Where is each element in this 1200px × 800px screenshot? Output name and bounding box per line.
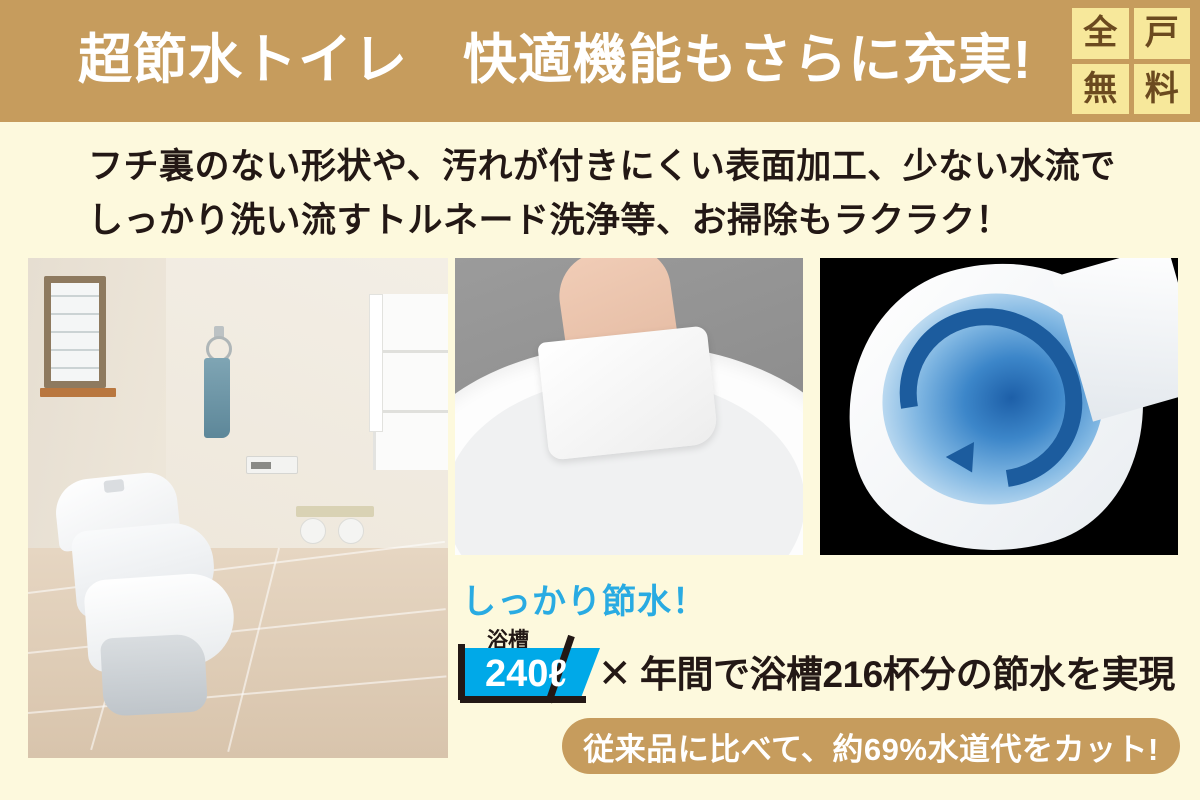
bathtub-icon: 240ℓ — [458, 648, 600, 700]
wall-cabinet — [373, 294, 448, 470]
toilet-base — [100, 633, 208, 716]
toilet-paper-roll — [338, 518, 364, 544]
cleaning-cloth — [537, 325, 718, 460]
toilet-flush-button — [103, 479, 124, 493]
floor-tile-line — [227, 548, 280, 752]
savings-heading: しっかり節水！ — [462, 574, 707, 623]
badge-cell-ko: 戸 — [1134, 8, 1191, 59]
hanging-towel — [204, 358, 230, 438]
cabinet-door — [369, 294, 383, 432]
page-title: 超節水トイレ 快適機能もさらに充実! — [78, 27, 1032, 93]
savings-sentence: 年間で浴槽216杯分の節水を実現 — [640, 652, 1175, 698]
free-for-all-units-badge: 全 戸 無 料 — [1072, 8, 1190, 114]
tornado-flush-photo — [820, 258, 1178, 555]
badge-cell-ryo: 料 — [1134, 64, 1191, 115]
multiply-sign: ✕ — [598, 652, 632, 696]
badge-cell-mu: 無 — [1072, 64, 1129, 115]
header-bar: 超節水トイレ 快適機能もさらに充実! 全 戸 無 料 — [0, 0, 1200, 122]
water-bill-cut-badge: 従来品に比べて、約69%水道代をカット! — [562, 718, 1180, 774]
lead-line-2: しっかり洗い流すトルネード洗浄等、お掃除もラクラク！ — [88, 194, 1108, 248]
window-sill — [40, 388, 116, 397]
water-bill-cut-text: 従来品に比べて、約69%水道代をカット! — [583, 724, 1159, 769]
toilet-control-panel — [246, 456, 298, 474]
badge-cell-zen: 全 — [1072, 8, 1129, 59]
lead-line-1: フチ裏のない形状や、汚れが付きにくい表面加工、少ない水流で — [88, 140, 1108, 194]
cleaning-photo — [455, 258, 803, 555]
window-icon — [44, 276, 106, 388]
toilet-room-photo — [28, 258, 448, 758]
toilet-paper-roll — [300, 518, 326, 544]
bathtub-outline-left — [458, 644, 465, 700]
poster-root: 超節水トイレ 快適機能もさらに充実! 全 戸 無 料 フチ裏のない形状や、汚れが… — [0, 0, 1200, 800]
paper-holder-shelf — [296, 506, 374, 517]
lead-paragraph: フチ裏のない形状や、汚れが付きにくい表面加工、少ない水流で しっかり洗い流すトル… — [88, 140, 1108, 248]
bathtub-outline-bottom — [460, 696, 586, 703]
tub-volume-value: 240ℓ — [468, 652, 584, 696]
